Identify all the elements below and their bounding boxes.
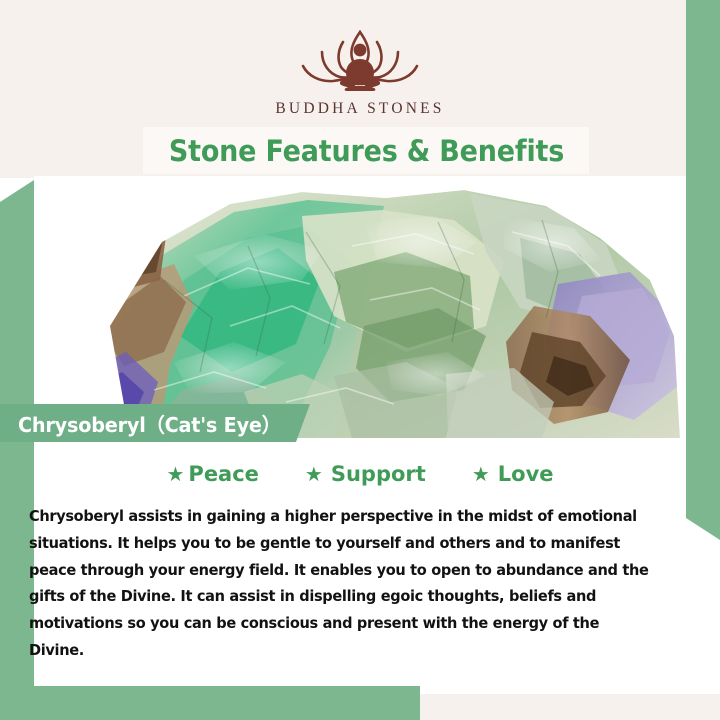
stone-photo xyxy=(34,176,686,438)
keyword-item-peace: ★ Peace xyxy=(166,462,258,486)
stone-name-band: Chrysoberyl（Cat's Eye） xyxy=(0,404,310,442)
brand-logo: BUDDHA STONES xyxy=(0,22,720,118)
title-banner: Stone Features & Benefits xyxy=(143,127,589,174)
keyword-label: Support xyxy=(331,462,426,486)
lotus-meditation-icon xyxy=(0,22,720,96)
keyword-item-love: ★ Love xyxy=(472,462,554,486)
star-icon: ★ xyxy=(472,464,490,484)
footer-cream-strip xyxy=(420,694,720,720)
keyword-label: Love xyxy=(498,462,554,486)
page-title: Stone Features & Benefits xyxy=(168,134,563,168)
star-icon: ★ xyxy=(166,464,184,484)
stone-info-poster: BUDDHA STONES Stone Features & Benefits xyxy=(0,0,720,720)
keyword-label: Peace xyxy=(188,462,259,486)
frame-bottom-bar xyxy=(0,686,420,720)
star-icon: ★ xyxy=(305,464,323,484)
keyword-item-support: ★ Support xyxy=(305,462,426,486)
keyword-list: ★ Peace ★ Support ★ Love xyxy=(34,462,686,486)
chrysoberyl-raw-crystal-photo xyxy=(34,176,686,438)
stone-description-text: Chrysoberyl assists in gaining a higher … xyxy=(29,503,655,664)
brand-name: BUDDHA STONES xyxy=(0,100,720,118)
stone-name-label: Chrysoberyl（Cat's Eye） xyxy=(18,409,281,438)
